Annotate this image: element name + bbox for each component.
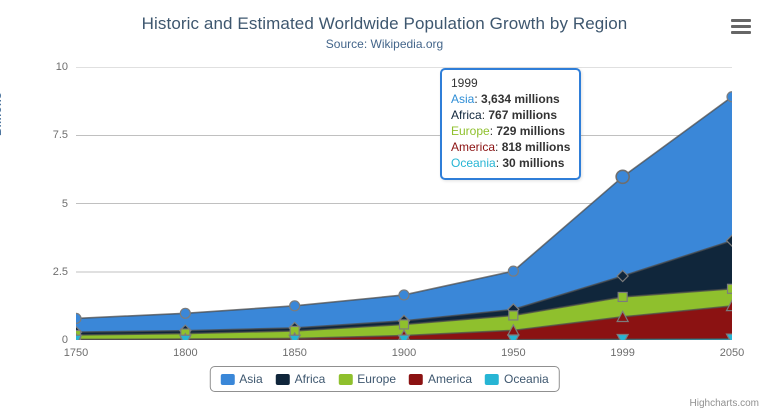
- x-axis-tick-label: 1850: [282, 347, 306, 359]
- data-point-europe-1900[interactable]: [400, 320, 409, 329]
- legend-item-europe[interactable]: Europe: [338, 372, 396, 386]
- legend-label: Asia: [239, 372, 262, 386]
- y-axis-tick-label: 10: [8, 61, 68, 73]
- legend-item-america[interactable]: America: [409, 372, 472, 386]
- legend-item-oceania[interactable]: Oceania: [485, 372, 549, 386]
- legend-swatch-africa: [276, 374, 290, 385]
- tooltip-row-europe: Europe: 729 millions: [451, 123, 570, 139]
- data-point-asia-2050[interactable]: [727, 92, 732, 102]
- data-point-oceania-1950[interactable]: [508, 335, 519, 340]
- chart-container: Historic and Estimated Worldwide Populat…: [0, 0, 769, 416]
- tooltip-value: 3,634 millions: [481, 92, 560, 106]
- x-axis-tick-label: 1900: [392, 347, 416, 359]
- tooltip-series-name: Asia: [451, 92, 474, 106]
- y-axis-tick-label: 5: [8, 198, 68, 210]
- legend-label: Oceania: [504, 372, 549, 386]
- legend-swatch-europe: [338, 374, 352, 385]
- chart-tooltip: 1999 Asia: 3,634 millionsAfrica: 767 mil…: [440, 68, 581, 180]
- highlighted-data-point[interactable]: [616, 170, 629, 183]
- data-point-oceania-1900[interactable]: [399, 335, 410, 340]
- tooltip-separator: :: [495, 140, 502, 154]
- data-point-asia-1850[interactable]: [290, 301, 300, 311]
- context-menu-button[interactable]: [729, 18, 753, 36]
- chart-subtitle: Source: Wikipedia.org: [0, 37, 769, 51]
- legend-label: Europe: [357, 372, 396, 386]
- legend-swatch-asia: [220, 374, 234, 385]
- tooltip-separator: :: [474, 92, 481, 106]
- data-point-europe-2050[interactable]: [728, 284, 733, 293]
- hamburger-icon-bar: [731, 19, 751, 22]
- data-point-asia-1750[interactable]: [76, 313, 81, 323]
- tooltip-row-america: America: 818 millions: [451, 139, 570, 155]
- tooltip-series-name: America: [451, 140, 495, 154]
- tooltip-rows: Asia: 3,634 millionsAfrica: 767 millions…: [451, 91, 570, 171]
- tooltip-row-oceania: Oceania: 30 millions: [451, 155, 570, 171]
- x-axis-tick-label: 1999: [610, 347, 634, 359]
- chart-plot: [76, 67, 732, 340]
- x-axis-tick-label: 1950: [501, 347, 525, 359]
- x-axis-tick-label: 1750: [64, 347, 88, 359]
- data-point-asia-1900[interactable]: [399, 290, 409, 300]
- legend-item-africa[interactable]: Africa: [276, 372, 326, 386]
- data-point-oceania-1800[interactable]: [180, 335, 191, 340]
- chart-title: Historic and Estimated Worldwide Populat…: [0, 14, 769, 34]
- tooltip-value: 729 millions: [496, 124, 565, 138]
- legend-item-asia[interactable]: Asia: [220, 372, 262, 386]
- tooltip-row-africa: Africa: 767 millions: [451, 107, 570, 123]
- tooltip-header: 1999: [451, 76, 570, 90]
- hamburger-icon-bar: [731, 31, 751, 34]
- tooltip-row-asia: Asia: 3,634 millions: [451, 91, 570, 107]
- y-axis-tick-label: 2.5: [8, 266, 68, 278]
- x-axis-labels: 1750180018501900195019992050: [76, 344, 732, 364]
- legend-label: Africa: [295, 372, 326, 386]
- legend-swatch-oceania: [485, 374, 499, 385]
- data-point-europe-1950[interactable]: [509, 311, 518, 320]
- data-point-asia-1800[interactable]: [180, 308, 190, 318]
- legend-swatch-america: [409, 374, 423, 385]
- y-axis-title: Billions: [0, 74, 4, 154]
- plot-area: [76, 67, 732, 340]
- x-axis-tick-label: 2050: [720, 347, 744, 359]
- data-point-asia-1950[interactable]: [508, 266, 518, 276]
- y-axis-tick-label: 7.5: [8, 129, 68, 141]
- y-axis-tick-label: 0: [8, 334, 68, 346]
- y-axis-labels: 02.557.510: [8, 67, 68, 340]
- tooltip-value: 818 millions: [502, 140, 571, 154]
- x-axis-tick-label: 1800: [173, 347, 197, 359]
- hamburger-icon-bar: [731, 25, 751, 28]
- tooltip-series-name: Africa: [451, 108, 482, 122]
- tooltip-series-name: Oceania: [451, 156, 496, 170]
- chart-legend: AsiaAfricaEuropeAmericaOceania: [209, 366, 559, 392]
- data-point-oceania-1850[interactable]: [289, 335, 300, 340]
- credits-link[interactable]: Highcharts.com: [690, 398, 759, 409]
- tooltip-series-name: Europe: [451, 124, 490, 138]
- legend-label: America: [428, 372, 472, 386]
- tooltip-value: 30 millions: [502, 156, 564, 170]
- data-point-europe-1999[interactable]: [618, 292, 627, 301]
- tooltip-value: 767 millions: [488, 108, 557, 122]
